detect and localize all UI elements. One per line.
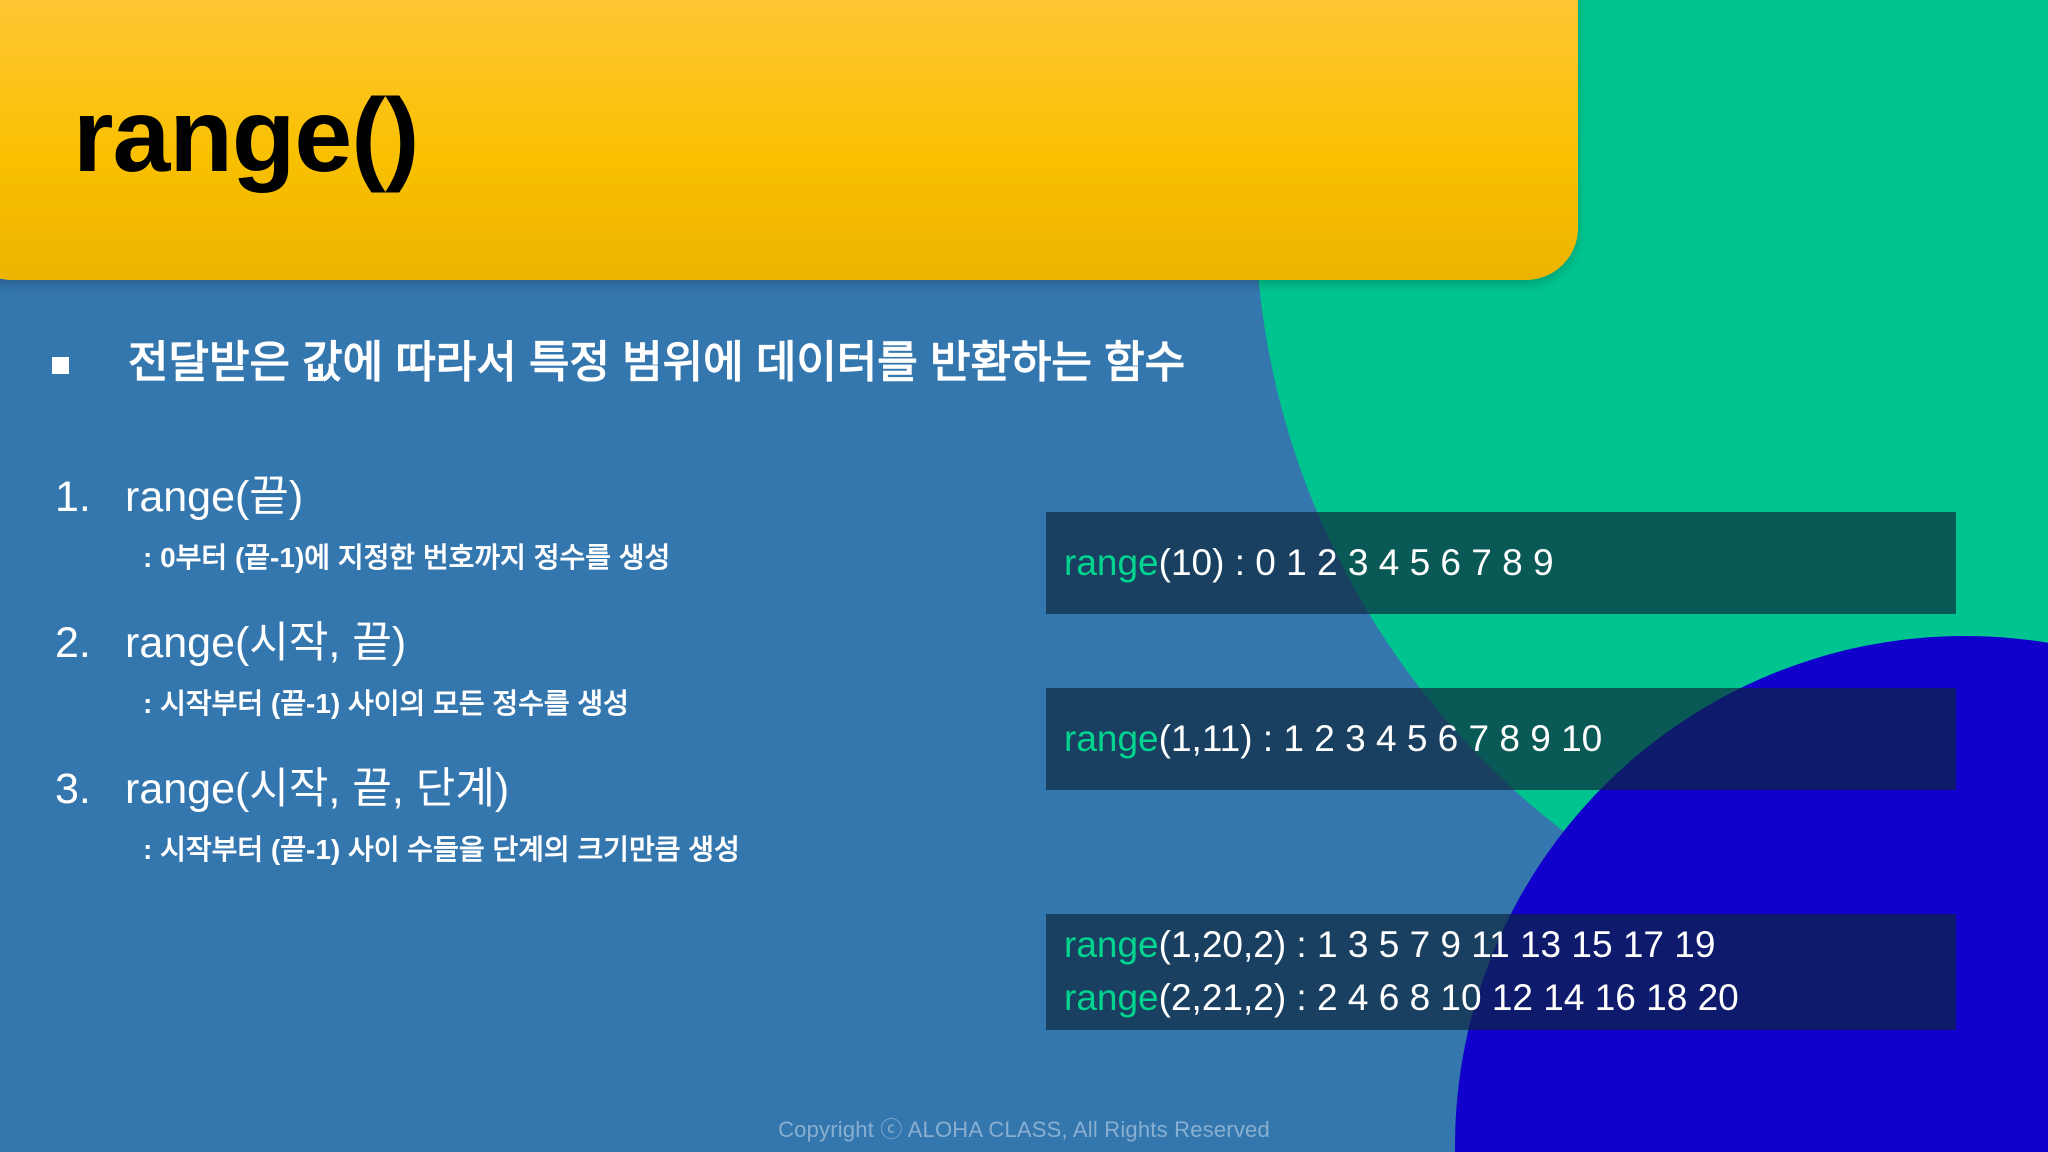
square-bullet-icon xyxy=(52,357,69,374)
copyright-footer: Copyright ⓒ ALOHA CLASS, All Rights Rese… xyxy=(0,1112,2048,1144)
list-item: 3. range(시작, 끝, 단계) : 시작부터 (끝-1) 사이 수들을 … xyxy=(55,754,1060,868)
list-item-heading: 2. range(시작, 끝) xyxy=(55,608,1060,670)
code-args-output: (1,20,2) : 1 3 5 7 9 11 13 15 17 19 xyxy=(1159,924,1716,965)
code-args-output: (1,11) : 1 2 3 4 5 6 7 8 9 10 xyxy=(1159,718,1603,759)
list-item-number: 1. xyxy=(55,473,125,522)
page-title: range() xyxy=(0,84,418,280)
list-item-description: : 시작부터 (끝-1) 사이 수들을 단계의 크기만큼 생성 xyxy=(143,828,1060,868)
code-function-name: range xyxy=(1064,924,1159,965)
code-line: range(10) : 0 1 2 3 4 5 6 7 8 9 xyxy=(1064,537,1956,590)
list-item-heading: 1. range(끝) xyxy=(55,462,1060,524)
main-content: 전달받은 값에 따라서 특정 범위에 데이터를 반환하는 함수 1. range… xyxy=(0,300,1060,900)
list-item: 2. range(시작, 끝) : 시작부터 (끝-1) 사이의 모든 정수를 … xyxy=(55,608,1060,722)
lead-bullet-text: 전달받은 값에 따라서 특정 범위에 데이터를 반환하는 함수 xyxy=(128,337,1185,390)
list-item-heading: 3. range(시작, 끝, 단계) xyxy=(55,754,1060,816)
code-args-output: (10) : 0 1 2 3 4 5 6 7 8 9 xyxy=(1159,542,1554,583)
list-item-description: : 0부터 (끝-1)에 지정한 번호까지 정수를 생성 xyxy=(143,536,1060,576)
code-line: range(1,20,2) : 1 3 5 7 9 11 13 15 17 19 xyxy=(1064,919,1956,972)
code-function-name: range xyxy=(1064,718,1159,759)
list-item-number: 2. xyxy=(55,619,125,668)
lead-bullet-row: 전달받은 값에 따라서 특정 범위에 데이터를 반환하는 함수 xyxy=(0,337,1060,390)
code-function-name: range xyxy=(1064,542,1159,583)
list-item-title: range(시작, 끝, 단계) xyxy=(125,754,509,816)
list-item-description: : 시작부터 (끝-1) 사이의 모든 정수를 생성 xyxy=(143,682,1060,722)
range-form-list: 1. range(끝) : 0부터 (끝-1)에 지정한 번호까지 정수를 생성… xyxy=(0,462,1060,868)
list-item-number: 3. xyxy=(55,765,125,814)
slide-canvas: range() 전달받은 값에 따라서 특정 범위에 데이터를 반환하는 함수 … xyxy=(0,0,2048,1152)
list-item: 1. range(끝) : 0부터 (끝-1)에 지정한 번호까지 정수를 생성 xyxy=(55,462,1060,576)
list-item-title: range(끝) xyxy=(125,462,303,524)
list-item-title: range(시작, 끝) xyxy=(125,608,406,670)
code-line: range(2,21,2) : 2 4 6 8 10 12 14 16 18 2… xyxy=(1064,972,1956,1025)
code-args-output: (2,21,2) : 2 4 6 8 10 12 14 16 18 20 xyxy=(1159,977,1739,1018)
code-example-panel: range(10) : 0 1 2 3 4 5 6 7 8 9 xyxy=(1046,512,1956,614)
code-function-name: range xyxy=(1064,977,1159,1018)
title-banner: range() xyxy=(0,0,1578,280)
code-example-panel: range(1,20,2) : 1 3 5 7 9 11 13 15 17 19… xyxy=(1046,914,1956,1030)
code-line: range(1,11) : 1 2 3 4 5 6 7 8 9 10 xyxy=(1064,713,1956,766)
code-example-panel: range(1,11) : 1 2 3 4 5 6 7 8 9 10 xyxy=(1046,688,1956,790)
